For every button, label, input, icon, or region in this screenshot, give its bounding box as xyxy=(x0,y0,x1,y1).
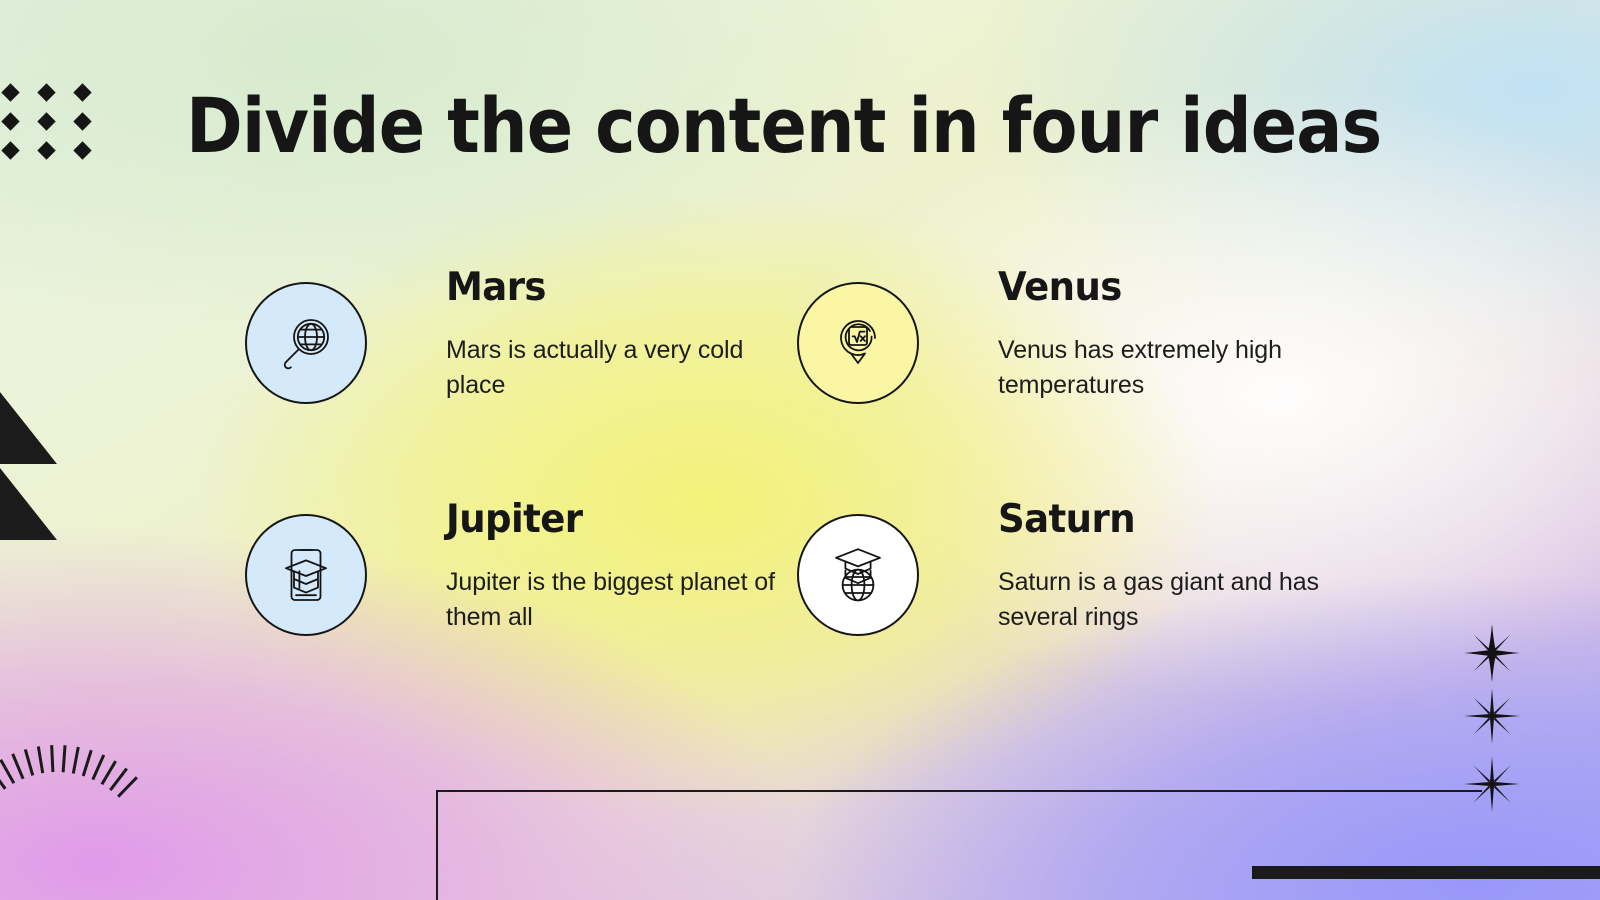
corner-triangle-lower xyxy=(0,468,57,540)
corner-triangle-upper xyxy=(0,392,57,464)
radial-tick-burst xyxy=(0,745,172,900)
item-text-block: Venus Venus has extremely high temperatu… xyxy=(998,268,1338,404)
diamond-dot xyxy=(1,141,19,159)
item-text-block: Jupiter Jupiter is the biggest planet of… xyxy=(446,500,786,636)
diamond-dot xyxy=(73,141,91,159)
item-body: Jupiter is the biggest planet of them al… xyxy=(446,565,786,636)
diamond-dot xyxy=(73,112,91,130)
slide-canvas: Divide the content in four ideas Mars M xyxy=(0,0,1600,900)
burst-tick xyxy=(11,753,24,779)
eight-point-sparkle-icon xyxy=(1463,687,1521,745)
item-heading: Venus xyxy=(998,268,1321,309)
item-text-block: Saturn Saturn is a gas giant and has sev… xyxy=(998,500,1338,636)
item-body: Mars is actually a very cold place xyxy=(446,333,786,404)
burst-tick xyxy=(82,750,93,777)
burst-tick xyxy=(50,745,54,772)
item-heading: Saturn xyxy=(998,500,1321,541)
content-item-mars: Mars Mars is actually a very cold place xyxy=(245,282,797,514)
diamond-dot xyxy=(1,112,19,130)
burst-tick xyxy=(91,754,105,780)
square-root-pin-icon xyxy=(797,282,919,404)
globe-magnifier-icon xyxy=(245,282,367,404)
item-body: Saturn is a gas giant and has several ri… xyxy=(998,565,1338,636)
page-title: Divide the content in four ideas xyxy=(186,88,1381,164)
content-item-jupiter: Jupiter Jupiter is the biggest planet of… xyxy=(245,514,797,746)
eight-point-sparkle-icon xyxy=(1463,624,1521,682)
diamond-dot xyxy=(37,112,55,130)
item-heading: Jupiter xyxy=(446,500,769,541)
burst-tick xyxy=(24,749,34,776)
diamond-dot-grid xyxy=(0,82,100,162)
diamond-dot xyxy=(37,141,55,159)
burst-tick xyxy=(62,745,67,772)
burst-tick xyxy=(0,759,15,784)
content-item-venus: Venus Venus has extremely high temperatu… xyxy=(797,282,1349,514)
burst-tick xyxy=(37,746,44,773)
diamond-dot xyxy=(73,83,91,101)
diamond-dot xyxy=(1,83,19,101)
mobile-graduation-icon xyxy=(245,514,367,636)
bottom-accent-bar xyxy=(1252,866,1600,879)
globe-graduation-icon xyxy=(797,514,919,636)
burst-tick xyxy=(72,747,80,774)
item-text-block: Mars Mars is actually a very cold place xyxy=(446,268,786,404)
item-heading: Mars xyxy=(446,268,769,309)
diamond-dot xyxy=(37,83,55,101)
content-grid: Mars Mars is actually a very cold place … xyxy=(245,282,1345,746)
content-item-saturn: Saturn Saturn is a gas giant and has sev… xyxy=(797,514,1349,746)
bottom-frame-outline xyxy=(436,790,1482,900)
item-body: Venus has extremely high temperatures xyxy=(998,333,1338,404)
